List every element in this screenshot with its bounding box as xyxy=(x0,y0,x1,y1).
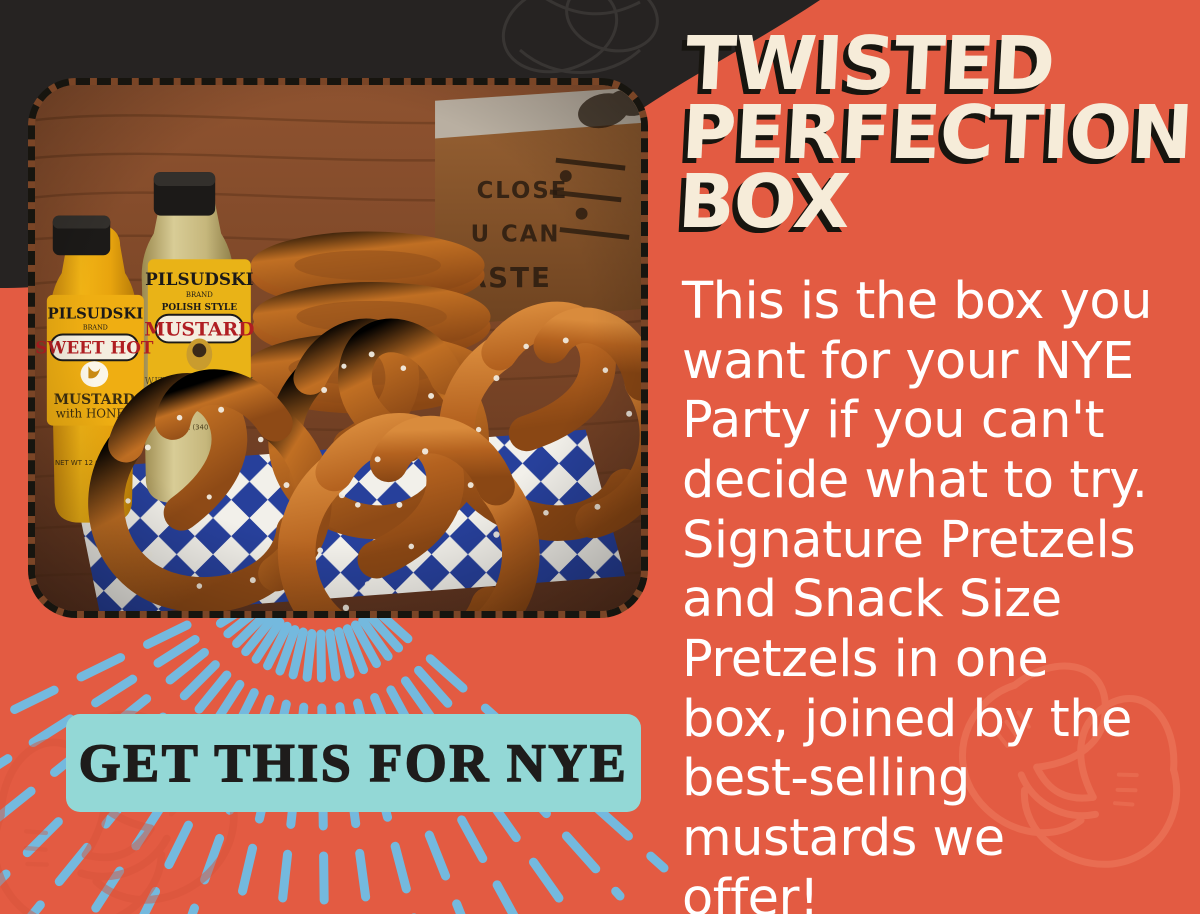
body-copy: This is the box you want for your NYE Pa… xyxy=(682,272,1152,914)
page-title: TWISTED PERFECTION BOX xyxy=(677,30,1158,236)
cta-label: GET THIS FOR NYE xyxy=(79,732,629,794)
product-photo[interactable]: CLOSE U CAN ASTE xyxy=(28,78,648,618)
copy-column: TWISTED PERFECTION BOX This is the box y… xyxy=(680,0,1180,914)
get-this-for-nye-button[interactable]: GET THIS FOR NYE xyxy=(66,714,641,812)
promo-ad-canvas: CLOSE U CAN ASTE xyxy=(0,0,1200,914)
pretzel-product-photo-illustration: CLOSE U CAN ASTE xyxy=(31,81,645,616)
